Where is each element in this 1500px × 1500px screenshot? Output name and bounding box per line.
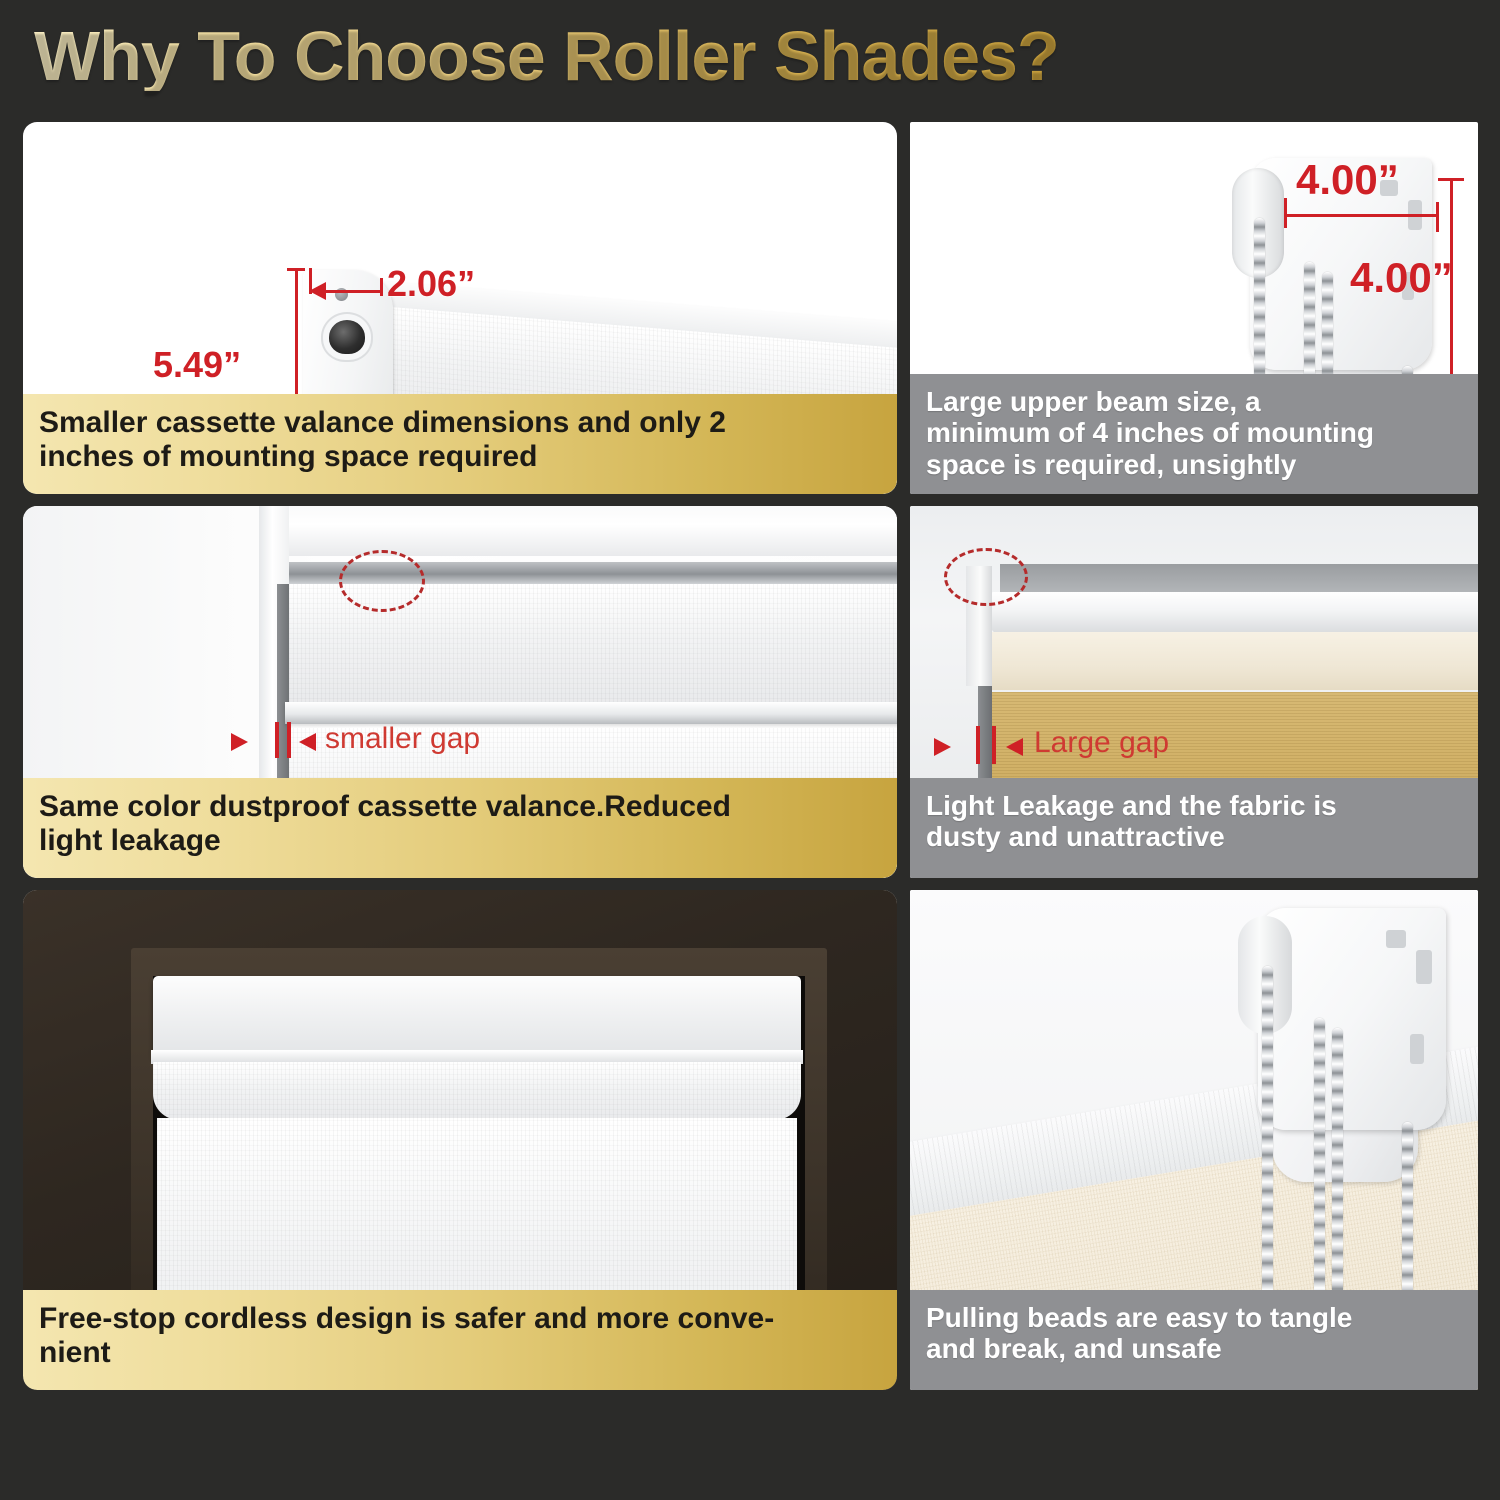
beam-width-tick-right (1436, 202, 1439, 232)
caption-line-3: space is required, unsightly (926, 449, 1462, 480)
caption-line-2: light leakage (39, 824, 881, 858)
gap-marker-1 (275, 722, 279, 758)
beam-height-tick-top (1438, 178, 1464, 181)
gap-arrow-right (1006, 738, 1023, 756)
cassette-headrail (153, 976, 801, 1056)
clutch-opening (329, 320, 365, 354)
caption-line-1: Same color dustproof cassette valance.Re… (39, 790, 881, 824)
beam-width-label: 4.00” (1296, 156, 1399, 204)
caption-line-1: Free-stop cordless design is safer and m… (39, 1302, 881, 1336)
beam-height-label: 4.00” (1350, 254, 1453, 302)
gap-marker-2 (287, 722, 291, 758)
roller-tube (990, 592, 1478, 634)
panel-large-upper-beam: 4.00” 4.00” Large upper beam size, a min… (910, 122, 1478, 494)
panel-smaller-cassette: 2.06” 5.49” Smaller cassette valance dim… (23, 122, 897, 494)
bracket-slot-1 (1386, 930, 1406, 948)
caption-line-2: dusty and unattractive (926, 821, 1462, 852)
middle-rail (285, 702, 897, 724)
caption-line-1: Large upper beam size, a (926, 386, 1462, 417)
highlight-circle-icon (944, 548, 1028, 606)
highlight-circle-icon (339, 550, 425, 612)
caption-line-2: nient (39, 1336, 881, 1370)
caption-dustproof-valance: Same color dustproof cassette valance.Re… (23, 778, 897, 878)
caption-light-leakage: Light Leakage and the fabric is dusty an… (910, 778, 1478, 878)
height-tick-top (287, 268, 305, 271)
beam-width-tick-left (1284, 198, 1287, 228)
gap-arrow-left (231, 733, 248, 751)
bracket-slot-3 (1410, 1034, 1424, 1064)
panel-dustproof-valance: smaller gap Same color dustproof cassett… (23, 506, 897, 878)
panel-pulling-beads: Pulling beads are easy to tangle and bre… (910, 890, 1478, 1390)
caption-line-1: Light Leakage and the fabric is (926, 790, 1462, 821)
height-dimension-label: 5.49” (153, 344, 241, 386)
gap-marker-2 (992, 726, 996, 764)
gap-arrow-right (299, 733, 316, 751)
width-tick-right (380, 278, 383, 296)
title-bar: Why To Choose Roller Shades? (0, 0, 1500, 112)
gap-marker-1 (976, 726, 980, 764)
gap-arrow-left (934, 738, 951, 756)
caption-smaller-cassette: Smaller cassette valance dimensions and … (23, 394, 897, 494)
beam-width-line (1286, 214, 1438, 217)
roller-tube (153, 1062, 801, 1120)
panel-cordless-design: Free-stop cordless design is safer and m… (23, 890, 897, 1390)
gap-label: Large gap (1034, 726, 1169, 760)
bracket-slot-2 (1416, 950, 1432, 984)
caption-line-1: Smaller cassette valance dimensions and … (39, 406, 881, 440)
caption-line-2: and break, and unsafe (926, 1333, 1462, 1364)
caption-line-1: Pulling beads are easy to tangle (926, 1302, 1462, 1333)
width-dimension-label: 2.06” (387, 263, 475, 305)
caption-line-2: minimum of 4 inches of mounting (926, 417, 1462, 448)
caption-pulling-beads: Pulling beads are easy to tangle and bre… (910, 1290, 1478, 1390)
caption-line-2: inches of mounting space required (39, 440, 881, 474)
valance-strip (990, 632, 1478, 690)
panel-light-leakage: Large gap Light Leakage and the fabric i… (910, 506, 1478, 878)
caption-cordless-design: Free-stop cordless design is safer and m… (23, 1290, 897, 1390)
window-frame-head (259, 506, 897, 556)
page-title: Why To Choose Roller Shades? (0, 21, 1059, 91)
width-arrow-left (309, 282, 326, 300)
gap-label: smaller gap (325, 722, 480, 756)
caption-large-upper-beam: Large upper beam size, a minimum of 4 in… (910, 374, 1478, 494)
